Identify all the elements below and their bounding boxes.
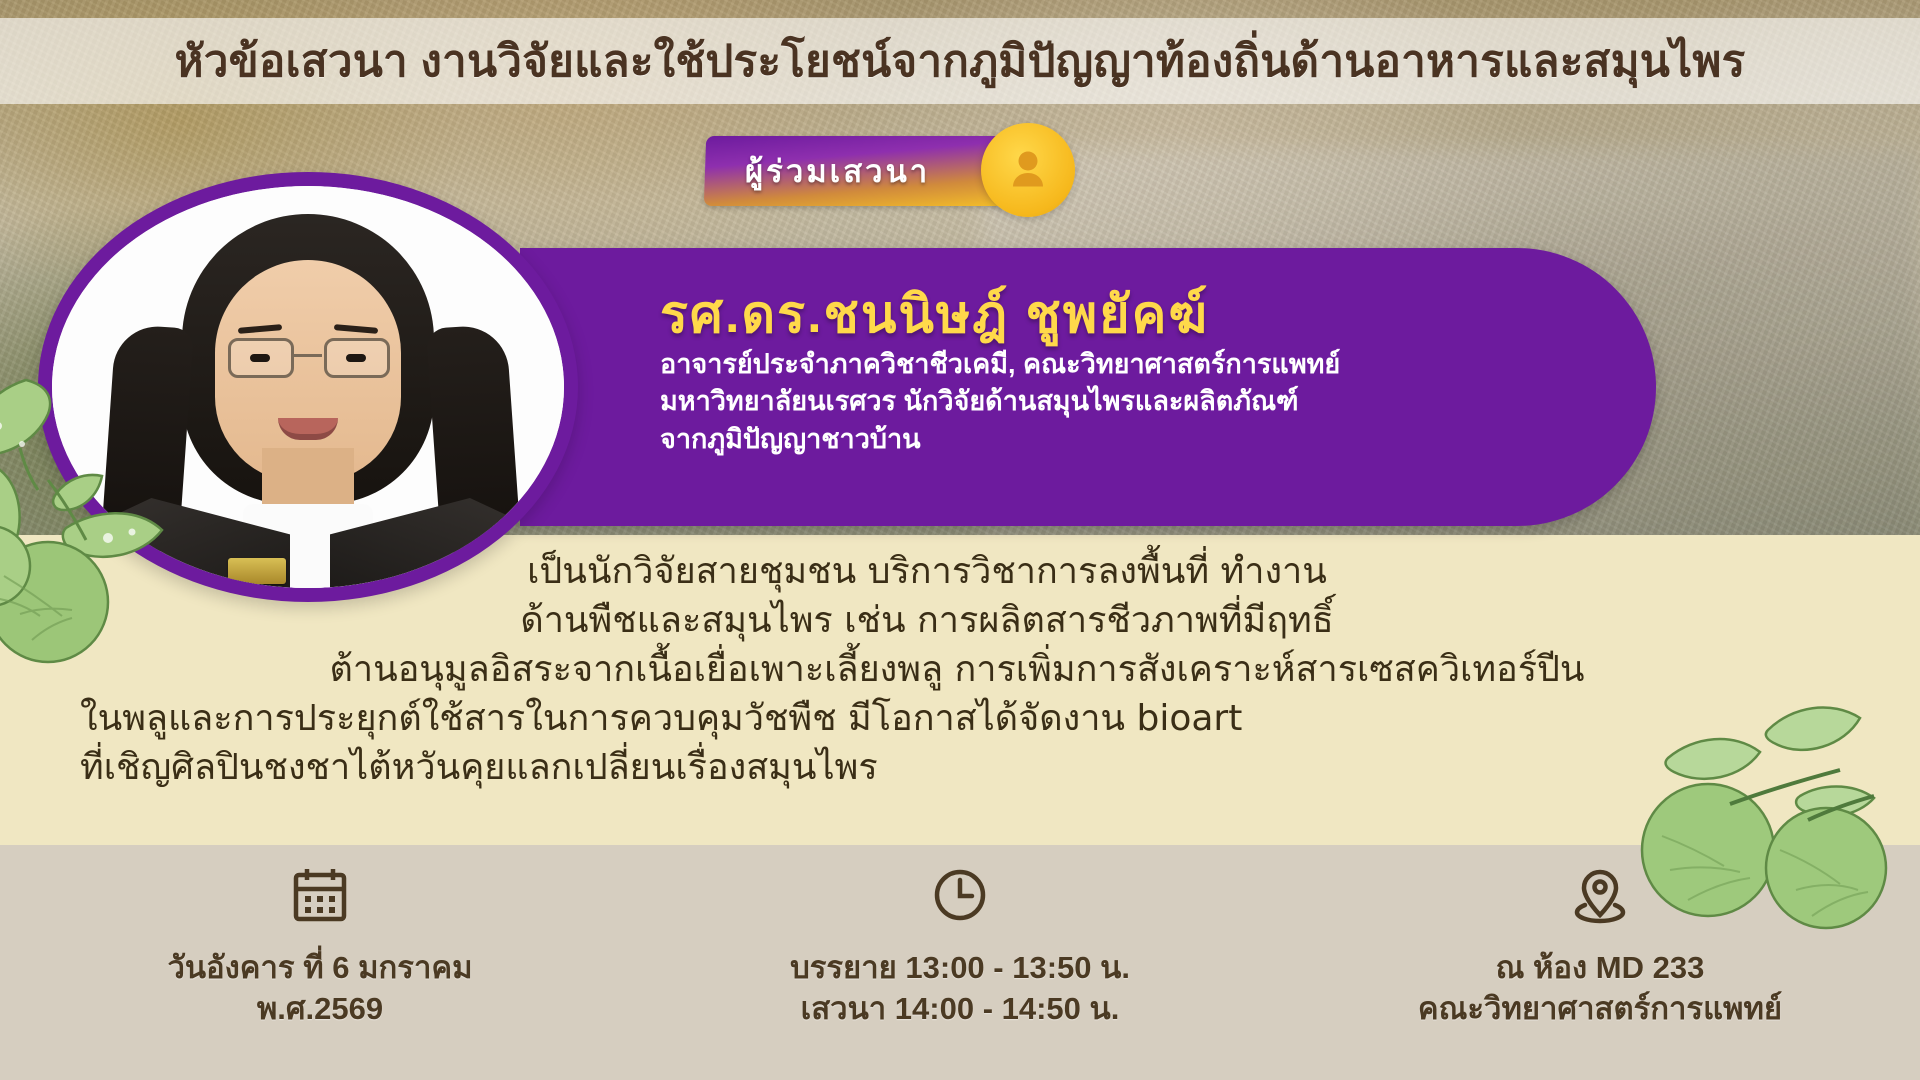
title-strip: หัวข้อเสวนา งานวิจัยและใช้ประโยชน์จากภูม… [0,18,1920,104]
badge-plate: ผู้ร่วมเสวนา [704,136,1028,206]
calendar-icon [288,858,352,932]
footer-item-date: วันอังคาร ที่ 6 มกราคม พ.ศ.2569 [0,858,640,1030]
footer-date-line: วันอังคาร ที่ 6 มกราคม [167,948,472,989]
footer-date-line: พ.ศ.2569 [167,989,472,1030]
clock-icon [928,858,992,932]
description-line: ที่เชิญศิลปินชงชาไต้หวันคุยแลกเปลี่ยนเรื… [40,744,1880,793]
description-line: เป็นนักวิจัยสายชุมชน บริการวิชาการลงพื้น… [40,548,1880,597]
footer-item-location: ณ ห้อง MD 233 คณะวิทยาศาสตร์การแพทย์ [1280,858,1920,1030]
page-title: หัวข้อเสวนา งานวิจัยและใช้ประโยชน์จากภูม… [175,26,1746,96]
speaker-affiliation-line: อาจารย์ประจำภาควิชาชีวเคมี, คณะวิทยาศาสต… [660,346,1540,383]
location-pin-icon [1568,858,1632,932]
participant-badge: ผู้ร่วมเสวนา [705,125,1026,217]
description-text: เป็นนักวิจัยสายชุมชน บริการวิชาการลงพื้น… [0,548,1920,793]
description-line: ในพลูและการประยุกต์ใช้สารในการควบคุมวัชพ… [40,695,1880,744]
speaker-affiliation-line: มหาวิทยาลัยนเรศวร นักวิจัยด้านสมุนไพรและ… [660,383,1540,420]
poster-canvas: หัวข้อเสวนา งานวิจัยและใช้ประโยชน์จากภูม… [0,0,1920,1080]
footer-date-text: วันอังคาร ที่ 6 มกราคม พ.ศ.2569 [167,948,472,1030]
footer-time-text: บรรยาย 13:00 - 13:50 น. เสวนา 14:00 - 14… [790,948,1130,1030]
badge-label: ผู้ร่วมเสวนา [745,146,930,196]
portrait-illustration [52,186,564,588]
footer-item-time: บรรยาย 13:00 - 13:50 น. เสวนา 14:00 - 14… [640,858,1280,1030]
speaker-photo [38,172,578,602]
footer-location-line: คณะวิทยาศาสตร์การแพทย์ [1418,989,1782,1030]
description-line: ด้านพืชและสมุนไพร เช่น การผลิตสารชีวภาพท… [40,597,1880,646]
person-icon [981,123,1075,217]
clock-icon-glyph [928,863,992,927]
footer-time-line: บรรยาย 13:00 - 13:50 น. [790,948,1130,989]
description-line: ต้านอนุมูลอิสระจากเนื้อเยื่อเพาะเลี้ยงพล… [40,646,1880,695]
footer-time-line: เสวนา 14:00 - 14:50 น. [790,989,1130,1030]
speaker-affiliation-line: จากภูมิปัญญาชาวบ้าน [660,421,1540,458]
speaker-name: รศ.ดร.ชนนิษฎ์ ชูพยัคฆ์ [660,272,1209,355]
footer-location-text: ณ ห้อง MD 233 คณะวิทยาศาสตร์การแพทย์ [1418,948,1782,1030]
footer-location-line: ณ ห้อง MD 233 [1418,948,1782,989]
speaker-info-panel: รศ.ดร.ชนนิษฎ์ ชูพยัคฆ์ อาจารย์ประจำภาควิ… [520,248,1656,526]
location-pin-icon-glyph [1568,863,1632,927]
speaker-affiliation: อาจารย์ประจำภาควิชาชีวเคมี, คณะวิทยาศาสต… [660,346,1540,458]
footer-info-row: วันอังคาร ที่ 6 มกราคม พ.ศ.2569 บรรยาย 1… [0,858,1920,1068]
calendar-icon-glyph [288,863,352,927]
person-icon-glyph [1002,144,1054,196]
